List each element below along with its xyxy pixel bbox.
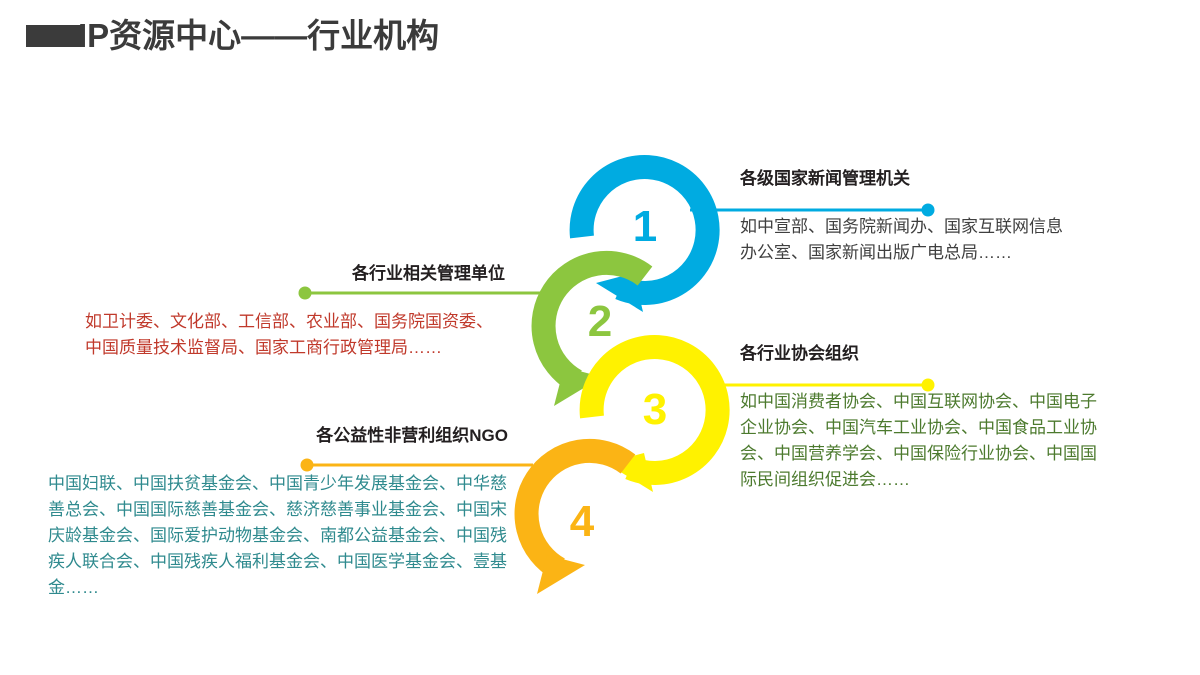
step-number-1: 1	[615, 205, 675, 249]
step-body-4: 中国妇联、中国扶贫基金会、中国青少年发展基金会、中华慈善总会、中国国际慈善基金会…	[48, 471, 508, 601]
slide-canvas: IP资源中心——行业机构	[0, 0, 1200, 675]
step-body-3: 如中国消费者协会、中国互联网协会、中国电子企业协会、中国汽车工业协会、中国食品工…	[740, 389, 1110, 493]
step-body-2: 如卫计委、文化部、工信部、农业部、国务院国资委、中国质量技术监督局、国家工商行政…	[85, 309, 505, 361]
step-text-block-1: 各级国家新闻管理机关 如中宣部、国务院新闻办、国家互联网信息办公室、国家新闻出版…	[740, 168, 1070, 266]
step-number-4: 4	[552, 500, 612, 544]
step-text-block-4: 各公益性非营利组织NGO 中国妇联、中国扶贫基金会、中国青少年发展基金会、中华慈…	[48, 425, 508, 601]
page-title: IP资源中心——行业机构	[78, 14, 439, 58]
step-title-2: 各行业相关管理单位	[85, 263, 505, 285]
slide-header: IP资源中心——行业机构	[0, 0, 1200, 72]
step-text-block-3: 各行业协会组织 如中国消费者协会、中国互联网协会、中国电子企业协会、中国汽车工业…	[740, 343, 1110, 493]
step-title-1: 各级国家新闻管理机关	[740, 168, 1070, 190]
step-title-3: 各行业协会组织	[740, 343, 1110, 365]
title-marker-bar	[26, 25, 81, 47]
step-text-block-2: 各行业相关管理单位 如卫计委、文化部、工信部、农业部、国务院国资委、中国质量技术…	[85, 263, 505, 361]
step-title-4: 各公益性非营利组织NGO	[48, 425, 508, 447]
step-body-1: 如中宣部、国务院新闻办、国家互联网信息办公室、国家新闻出版广电总局……	[740, 214, 1070, 266]
step-number-2: 2	[570, 300, 630, 344]
step-number-3: 3	[625, 388, 685, 432]
